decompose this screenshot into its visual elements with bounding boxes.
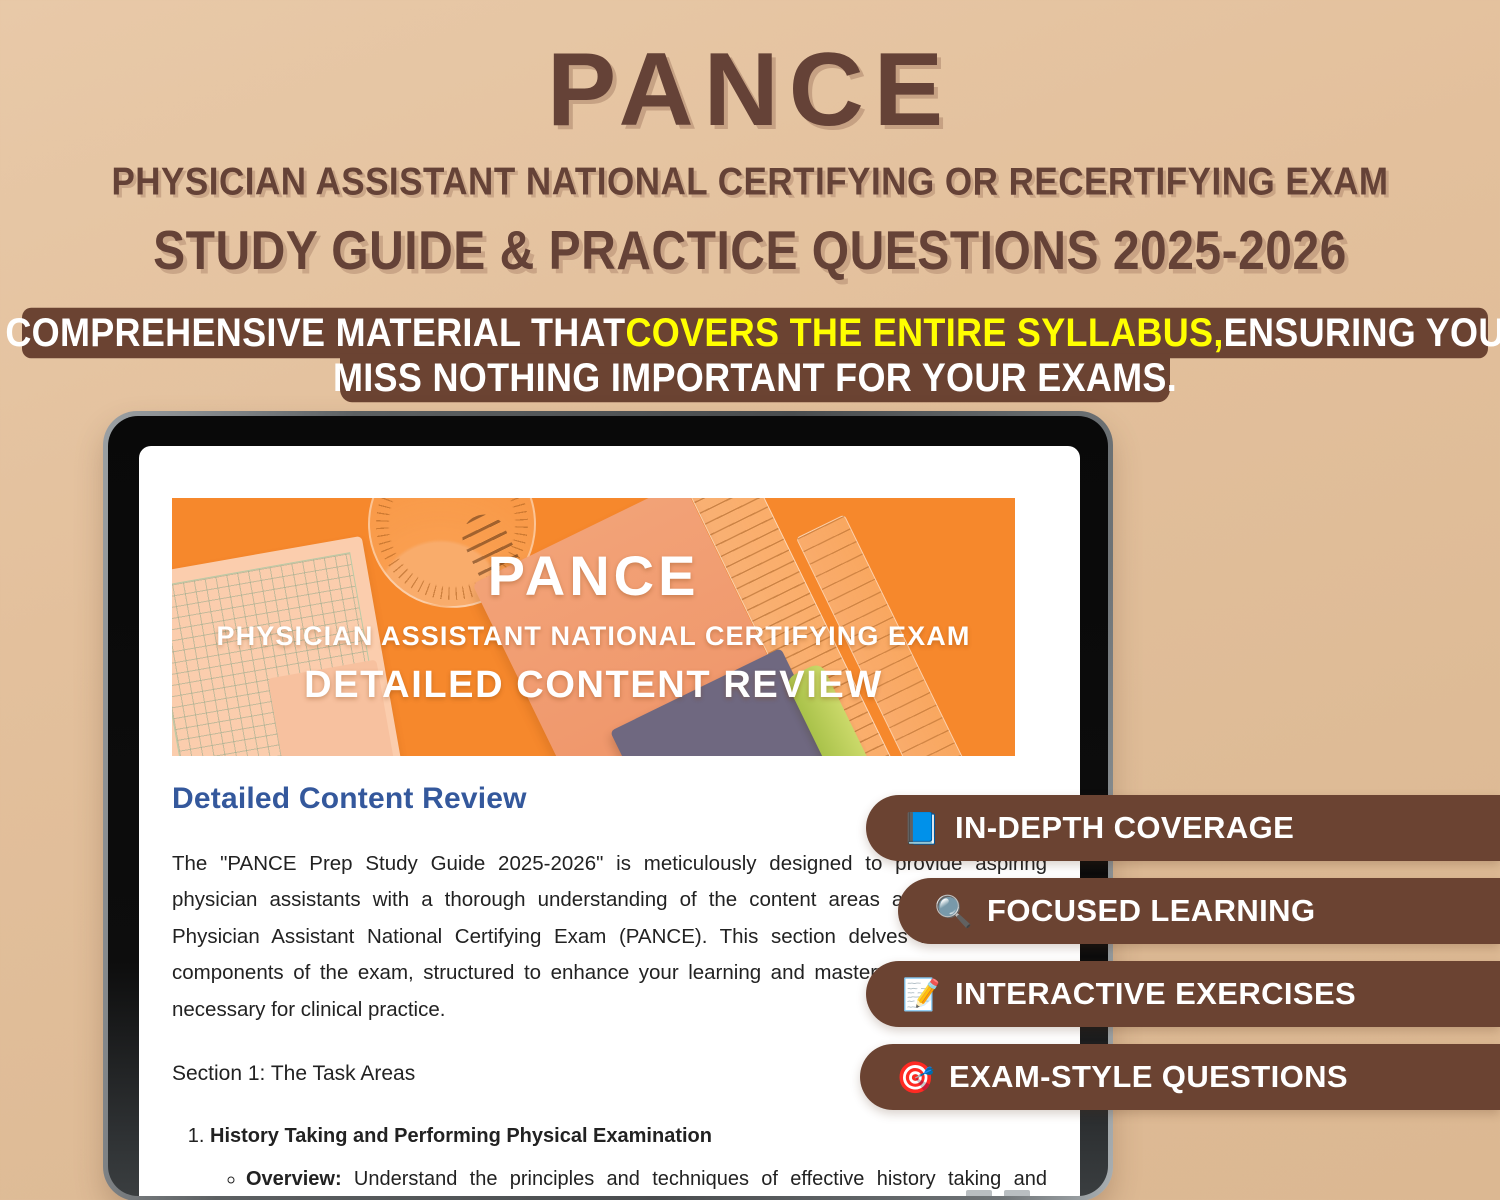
sub-item-label: Overview: bbox=[246, 1168, 342, 1190]
document-sub-list: Overview: Understand the principles and … bbox=[210, 1162, 1047, 1196]
hero-text-block: PANCE PHYSICIAN ASSISTANT NATIONAL CERTI… bbox=[172, 547, 1015, 707]
hero-tagline: DETAILED CONTENT REVIEW bbox=[172, 665, 1015, 707]
feature-pill-label: FOCUSED LEARNING bbox=[987, 893, 1315, 929]
tagline-line-2: MISS NOTHING IMPORTANT FOR YOUR EXAMS. bbox=[340, 354, 1170, 402]
target-icon: 🎯 bbox=[896, 1062, 935, 1093]
document-hero-image: PANCE PHYSICIAN ASSISTANT NATIONAL CERTI… bbox=[172, 498, 1015, 756]
feature-pill-label: IN-DEPTH COVERAGE bbox=[955, 810, 1294, 846]
feature-pill-focused-learning[interactable]: 🔍 FOCUSED LEARNING bbox=[898, 878, 1500, 944]
tagline-text-before: COMPREHENSIVE MATERIAL THAT bbox=[5, 313, 625, 353]
tagline-highlight: COVERS THE ENTIRE SYLLABUS, bbox=[625, 313, 1223, 353]
magnifier-icon: 🔍 bbox=[934, 896, 973, 927]
feature-pill-label: EXAM-STYLE QUESTIONS bbox=[949, 1059, 1348, 1095]
feature-pill-in-depth-coverage[interactable]: 📘 IN-DEPTH COVERAGE bbox=[866, 795, 1500, 861]
feature-pill-exam-style-questions[interactable]: 🎯 EXAM-STYLE QUESTIONS bbox=[860, 1044, 1500, 1110]
tablet-button-volume-down[interactable] bbox=[1004, 1190, 1030, 1196]
sub-item-text: Understand the principles and techniques… bbox=[246, 1168, 1047, 1196]
list-item-title: History Taking and Performing Physical E… bbox=[210, 1125, 712, 1147]
list-item: History Taking and Performing Physical E… bbox=[210, 1120, 1047, 1196]
header-subtitle-edition: STUDY GUIDE & PRACTICE QUESTIONS 2025-20… bbox=[0, 223, 1500, 280]
tablet-button-volume-up[interactable] bbox=[966, 1190, 992, 1196]
feature-pill-interactive-exercises[interactable]: 📝 INTERACTIVE EXERCISES bbox=[866, 961, 1500, 1027]
tagline-text-after: ENSURING YOU bbox=[1224, 313, 1500, 353]
memo-icon: 📝 bbox=[902, 979, 941, 1010]
document-ordered-list: History Taking and Performing Physical E… bbox=[172, 1120, 1047, 1196]
page-title: PANCE bbox=[0, 38, 1500, 142]
tagline-line-2-text: MISS NOTHING IMPORTANT FOR YOUR EXAMS. bbox=[333, 358, 1177, 398]
list-item: Overview: Understand the principles and … bbox=[246, 1162, 1047, 1196]
header-subtitle-exam-name: PHYSICIAN ASSISTANT NATIONAL CERTIFYING … bbox=[0, 162, 1500, 203]
book-icon: 📘 bbox=[902, 813, 941, 844]
tagline-line-1: COMPREHENSIVE MATERIAL THAT COVERS THE E… bbox=[22, 308, 1488, 359]
feature-pill-label: INTERACTIVE EXERCISES bbox=[955, 976, 1356, 1012]
hero-title: PANCE bbox=[172, 547, 1015, 606]
hero-subtitle: PHYSICIAN ASSISTANT NATIONAL CERTIFYING … bbox=[172, 622, 1015, 652]
poster-header: PANCE PHYSICIAN ASSISTANT NATIONAL CERTI… bbox=[0, 0, 1500, 277]
